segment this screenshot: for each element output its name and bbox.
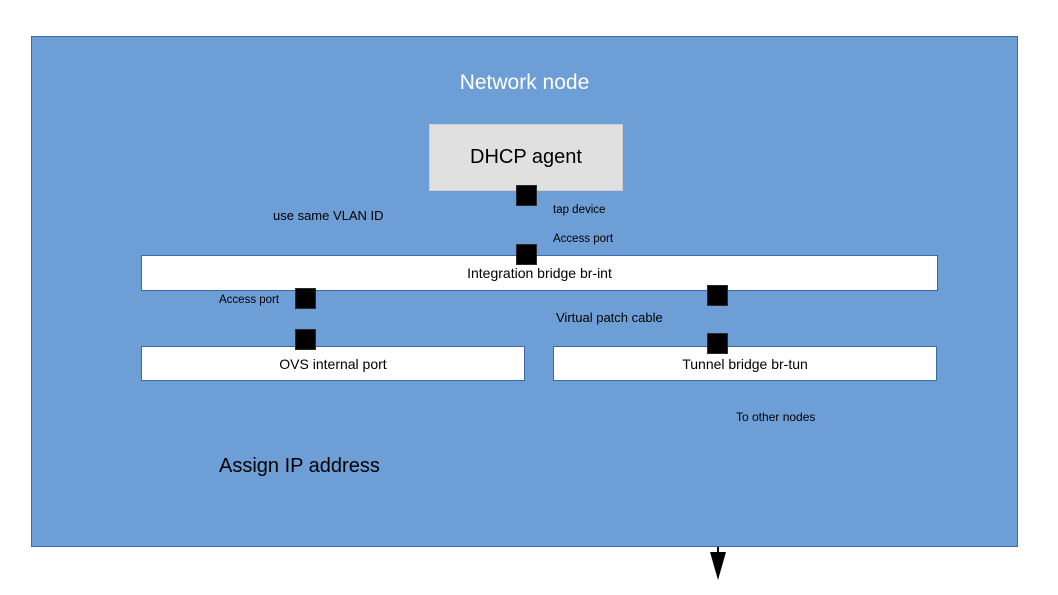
label-access-port-right: Access port bbox=[553, 232, 613, 246]
label-access-port-left: Access port bbox=[219, 293, 279, 307]
label-assign-ip-address: Assign IP address bbox=[219, 455, 380, 478]
to-other-nodes-arrowhead bbox=[710, 552, 726, 580]
port-square-patch-brint[interactable] bbox=[707, 285, 728, 306]
diagram-canvas: Network node DHCP agent Integration brid… bbox=[0, 0, 1058, 595]
label-virtual-patch-cable: Virtual patch cable bbox=[556, 311, 663, 325]
port-square-tap-device-top[interactable] bbox=[516, 185, 537, 206]
integration-bridge-box[interactable]: Integration bridge br-int bbox=[141, 255, 938, 291]
page-title: Network node bbox=[31, 70, 1018, 96]
port-square-ovs-internal-port[interactable] bbox=[295, 329, 316, 350]
dhcp-agent-box[interactable]: DHCP agent bbox=[429, 124, 623, 191]
label-to-other-nodes: To other nodes bbox=[736, 410, 815, 424]
port-square-tap-device-bottom[interactable] bbox=[516, 244, 537, 265]
network-node-container bbox=[31, 36, 1018, 547]
port-square-access-port-brint[interactable] bbox=[295, 288, 316, 309]
label-tap-device: tap device bbox=[553, 203, 605, 217]
label-use-same-vlan-id: use same VLAN ID bbox=[273, 209, 384, 223]
tunnel-bridge-box[interactable]: Tunnel bridge br-tun bbox=[553, 346, 937, 381]
port-square-patch-brtun[interactable] bbox=[707, 333, 728, 354]
ovs-internal-port-box[interactable]: OVS internal port bbox=[141, 346, 525, 381]
